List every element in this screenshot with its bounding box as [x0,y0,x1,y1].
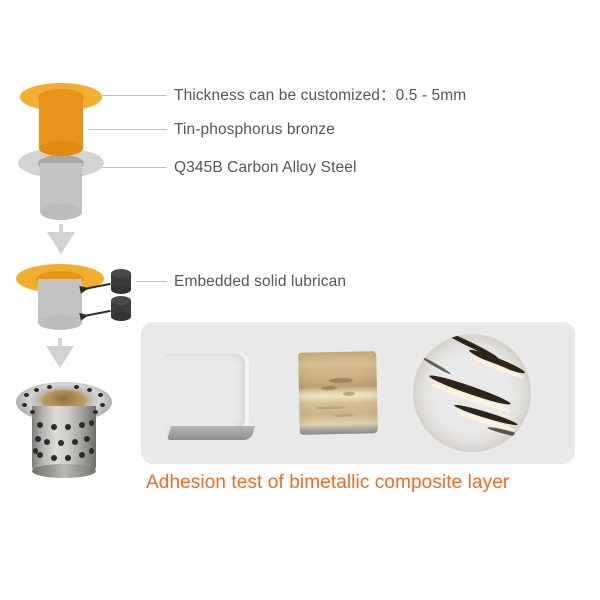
photo-panel-caption: Adhesion test of bimetallic composite la… [146,472,509,494]
sample-curved-steel-foot [167,426,255,440]
steel-barrel-bottom [40,204,82,220]
product-diagram: Thickness can be customized：0.5 - 5mm Ti… [0,0,600,600]
sample-magnified-bond-crack [413,334,531,452]
stage2-barrel-bottom [38,315,82,330]
sample-flat-bimetal-plate [298,351,378,435]
callout-label-bronze: Tin-phosphorus bronze [174,122,335,138]
bronze-barrel-bottom [39,141,83,156]
callout-label-lubricant: Embedded solid lubrican [174,274,346,290]
leader-line-lubricant [136,281,167,282]
leader-line-bronze [88,129,167,130]
sample-curved-highlight [233,352,249,432]
finished-bushing-barrel-bottom [32,464,96,478]
leader-line-steel [102,167,167,168]
stage-3-finished-bushing [14,382,114,480]
callout-label-steel: Q345B Carbon Alloy Steel [174,160,356,176]
adhesion-test-photo-panel [141,322,575,464]
callout-label-thickness: Thickness can be customized：0.5 - 5mm [174,88,466,104]
leader-line-thickness [93,95,167,96]
